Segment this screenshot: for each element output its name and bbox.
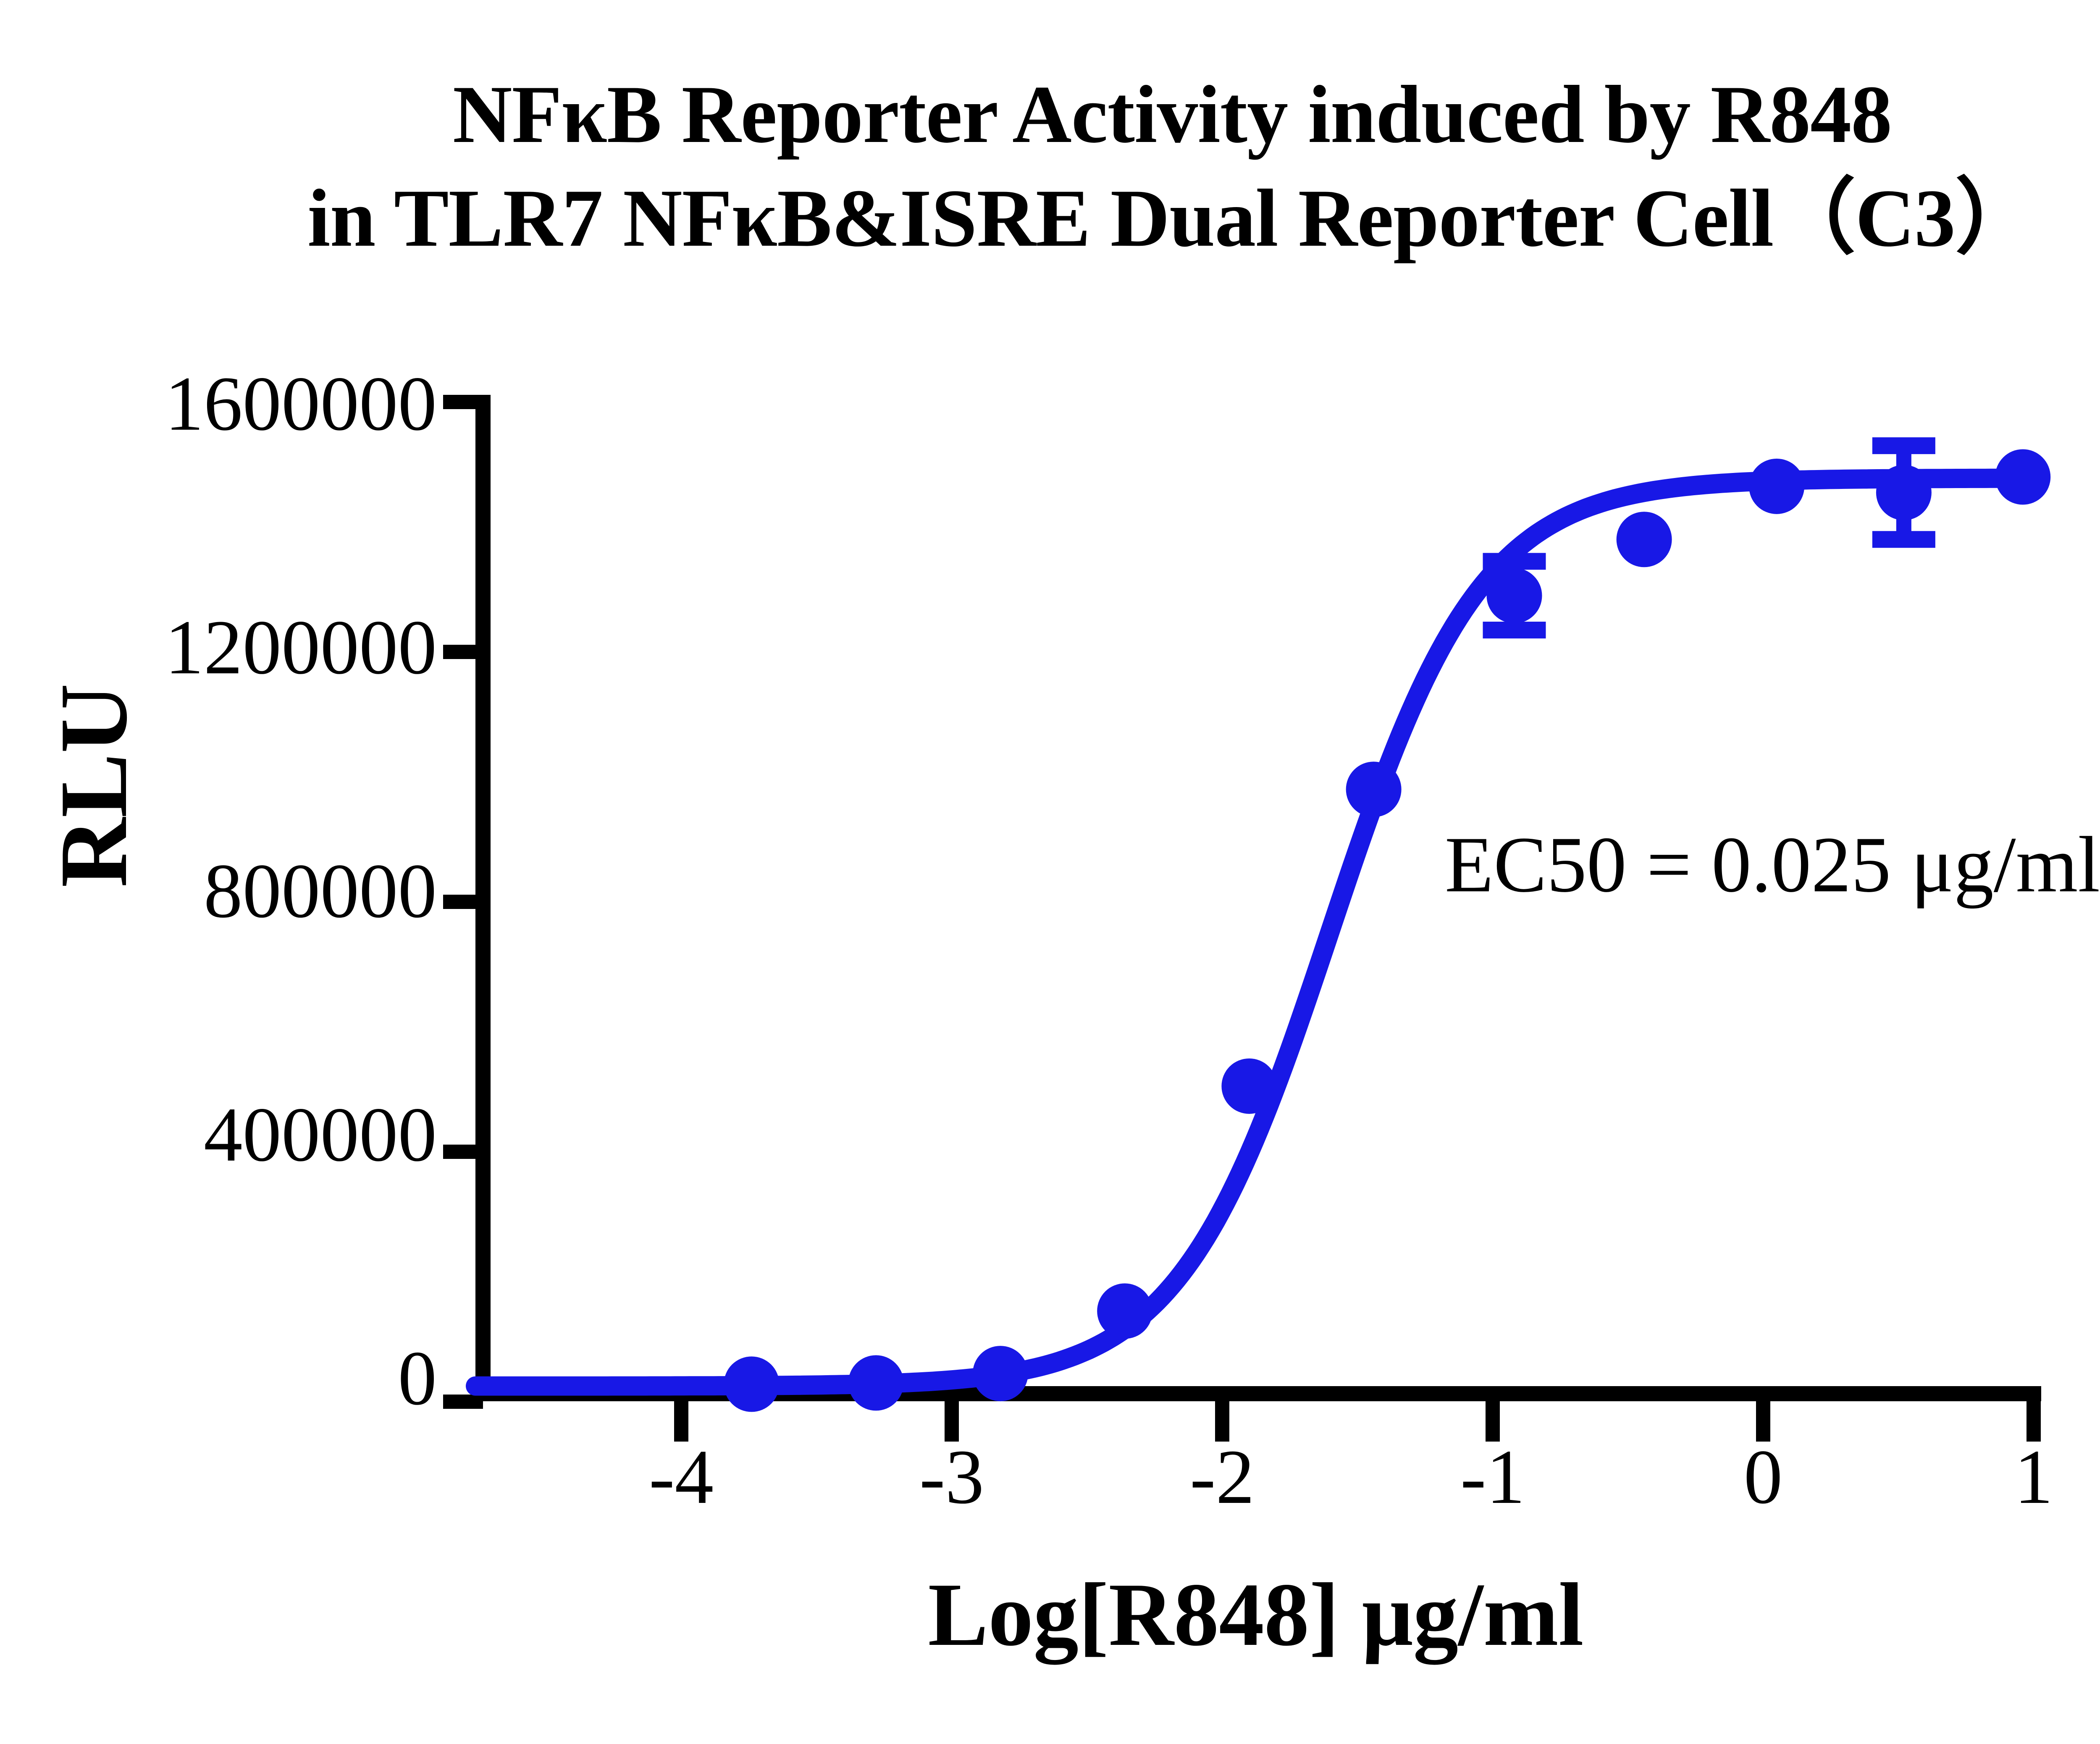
fit-curve (475, 478, 2034, 1386)
series-group-r848 (475, 446, 2050, 1412)
data-markers-group (724, 449, 2050, 1412)
axis-group (443, 395, 2041, 1442)
plot-svg (0, 0, 2100, 1744)
data-point-marker (1749, 459, 1804, 514)
data-point-marker (1097, 1283, 1152, 1339)
data-point-marker (848, 1355, 904, 1410)
data-point-marker (1617, 512, 1672, 567)
data-point-marker (1876, 465, 1932, 520)
data-point-marker (724, 1356, 779, 1412)
data-point-marker (973, 1346, 1028, 1401)
data-point-marker (1487, 568, 1542, 623)
chart-figure: NFκB Reporter Activity induced by R848 i… (0, 0, 2100, 1744)
data-point-marker (1995, 449, 2050, 505)
data-point-marker (1221, 1058, 1277, 1114)
data-point-marker (1346, 762, 1402, 817)
